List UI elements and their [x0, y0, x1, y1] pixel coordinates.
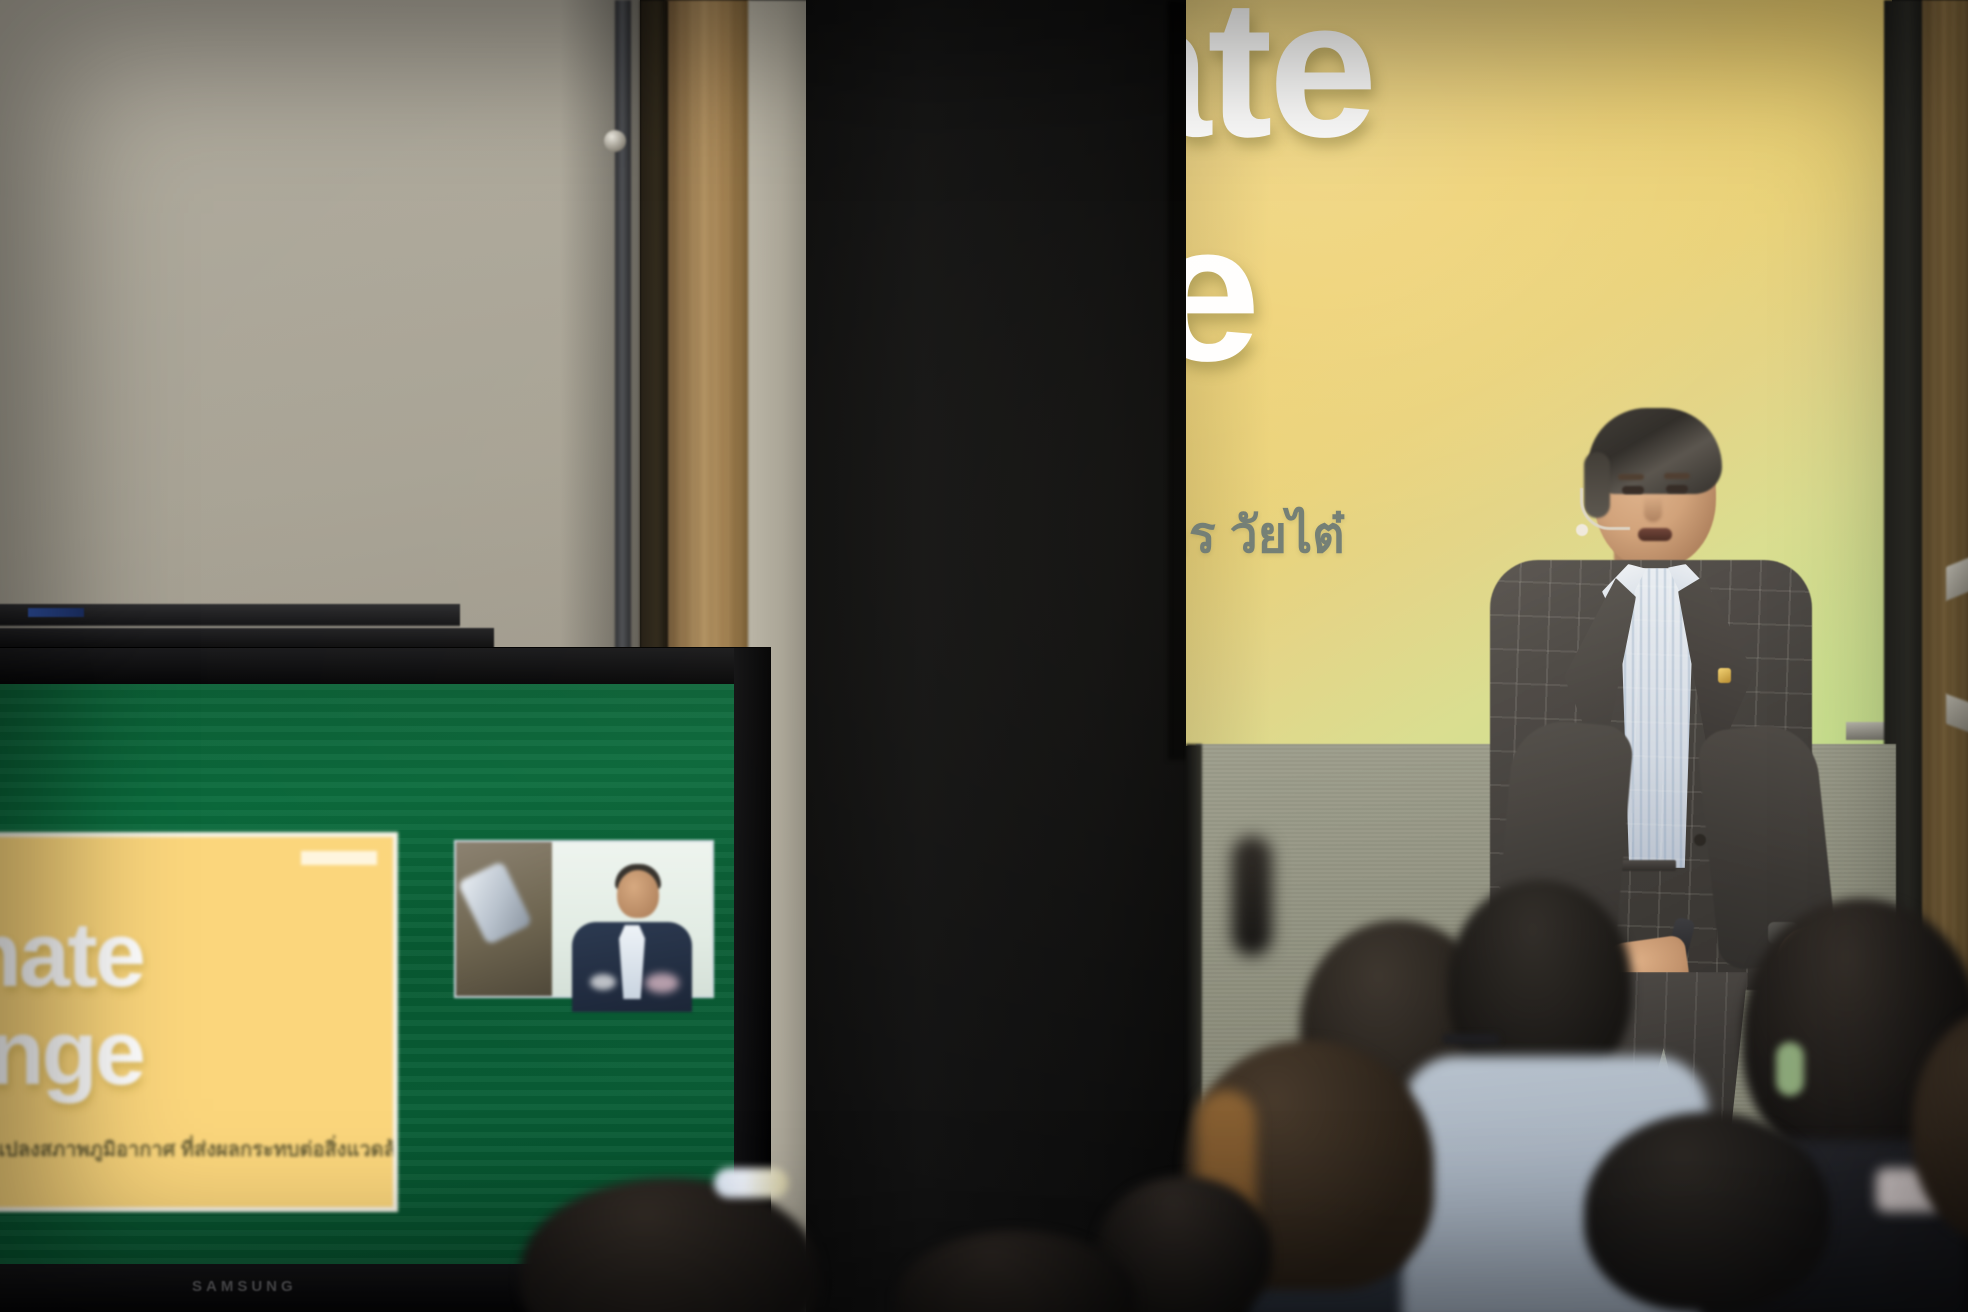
screen-headline-line-1: mate	[1186, 0, 1892, 181]
monitor-brand-logo: SAMSUNG	[192, 1278, 297, 1295]
slide-title-line-1: limate	[0, 903, 143, 1008]
black-backdrop-drape	[806, 0, 1196, 1312]
monitor-display-area[interactable]: limate hange การเปลี่ยนแปลงสภาพภูมิอากาศ…	[0, 684, 734, 1264]
presenter-nose	[1644, 496, 1662, 522]
feed-speaker-head	[617, 870, 659, 918]
monitor-top-bezel	[0, 648, 770, 686]
screen-thai-subtitle: ลก ที่ส่งผลกร วัยไต๋	[1186, 496, 1345, 575]
presenter-eyebrow-right	[1664, 473, 1690, 479]
jacket-button-icon	[1694, 834, 1706, 846]
audience-head	[1584, 1112, 1830, 1312]
pole-fixture-icon	[604, 130, 626, 152]
feed-bokeh-light-2	[645, 973, 679, 993]
presenter-mouth	[1638, 528, 1672, 541]
ceiling-pole	[615, 0, 631, 700]
presenter-eye-right	[1666, 485, 1688, 493]
eyeglasses-icon	[1442, 1034, 1500, 1044]
slide-corner-tag	[301, 851, 377, 865]
slide-title-line-2: hange	[0, 1001, 143, 1106]
slide-thai-subtitle: การเปลี่ยนแปลงสภาพภูมิอากาศ ที่ส่งผลกระท…	[0, 1133, 398, 1165]
presenter-eyebrow-left	[1618, 474, 1644, 480]
screenshot-root: mate nge ลก ที่ส่งผลกร วัยไต๋	[0, 0, 1968, 1312]
screen-headline-line-2: nge	[1186, 180, 1892, 405]
right-wood-grain	[1922, 0, 1968, 1060]
rear-monitor-badge	[28, 608, 84, 617]
face-mask-strap-icon	[1776, 1042, 1804, 1096]
feed-bokeh-light-1	[590, 974, 616, 990]
camera-feed-primary	[552, 842, 712, 996]
live-camera-feed-panel[interactable]	[454, 840, 714, 998]
microphone-capsule-icon	[1576, 524, 1588, 536]
audience-head	[1232, 836, 1272, 956]
hair-clip-icon	[714, 1168, 788, 1198]
stage-wall-left-edge	[1186, 744, 1202, 1164]
mid-monitor-top-bezel	[0, 628, 494, 650]
headset-microphone-icon	[1580, 488, 1630, 530]
gold-lapel-pin-icon	[1718, 668, 1731, 683]
camera-feed-secondary	[456, 842, 552, 996]
slide-preview-panel[interactable]: limate hange การเปลี่ยนแปลงสภาพภูมิอากาศ…	[0, 832, 398, 1212]
